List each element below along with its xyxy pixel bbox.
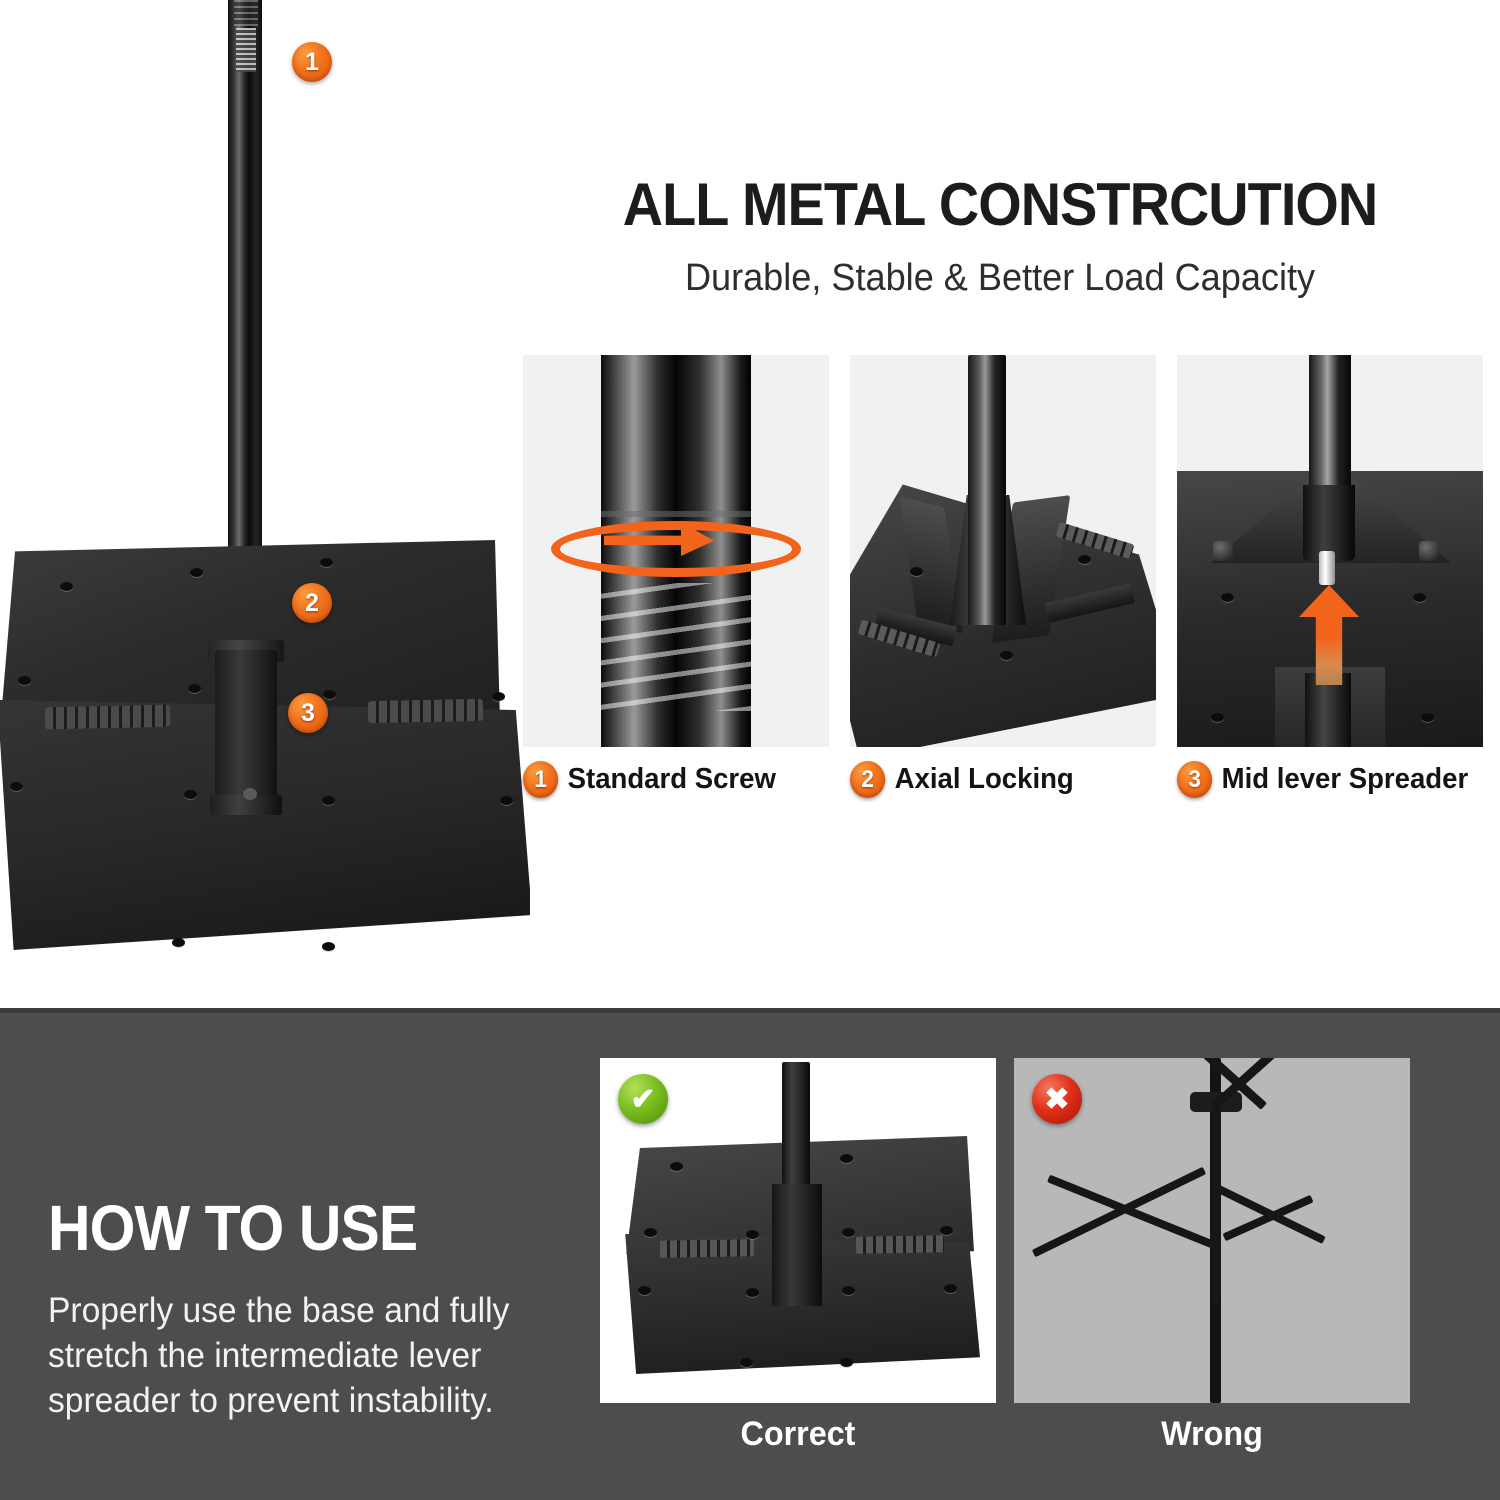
spreader-sleeve — [1303, 485, 1355, 561]
feature-label-3: Mid lever Spreader — [1222, 763, 1469, 796]
spreader-mount-hole — [1413, 593, 1426, 602]
feature-label-1: Standard Screw — [568, 763, 776, 796]
correct-mount-hole — [670, 1162, 683, 1171]
rotate-arrow-icon — [551, 521, 801, 577]
correct-mount-hole — [740, 1358, 753, 1367]
correct-mount-hole — [746, 1288, 759, 1297]
correct-mount-hole — [840, 1154, 853, 1163]
correct-pole — [782, 1062, 810, 1194]
hero-mount-hole — [184, 790, 197, 799]
tube-joint-line — [601, 511, 751, 517]
axial-mount-hole — [1000, 651, 1013, 660]
correct-hinge-right — [856, 1235, 944, 1254]
headline-block: ALL METAL CONSTRCUTION Durable, Stable &… — [520, 170, 1480, 300]
hero-mount-hole — [18, 676, 31, 685]
correct-mount-hole — [644, 1228, 657, 1237]
spreader-bolt — [1213, 541, 1233, 561]
hero-mount-hole — [322, 796, 335, 805]
comparison-label-wrong: Wrong — [1024, 1415, 1400, 1454]
feature-caption-axial-locking: 2 Axial Locking — [850, 761, 1141, 798]
axial-pole — [968, 355, 1006, 625]
correct-mount-hole — [842, 1228, 855, 1237]
feature-card-standard-screw: 1 Standard Screw — [523, 355, 829, 825]
how-to-use-body: Properly use the base and fully stretch … — [48, 1289, 538, 1423]
feature-image-standard-screw — [523, 355, 829, 747]
spreader-pin — [1319, 551, 1335, 585]
feature-thumbnail-row: 1 Standard Screw 2 Axial — [523, 355, 1483, 825]
correct-mount-hole — [746, 1230, 759, 1239]
close-icon: ✖ — [1032, 1074, 1082, 1124]
spreader-mount-hole — [1211, 713, 1224, 722]
hero-collar-knob — [243, 788, 257, 800]
feature-caption-mid-lever-spreader: 3 Mid lever Spreader — [1177, 761, 1468, 798]
hero-mount-hole — [320, 558, 333, 567]
correct-mount-hole — [944, 1284, 957, 1293]
comparison-row: ✔ Correct ✖ Wrong — [600, 1058, 1410, 1458]
correct-mount-hole — [638, 1286, 651, 1295]
correct-center-collar — [772, 1184, 822, 1306]
feature-badge-2: 2 — [850, 761, 885, 798]
page-title: ALL METAL CONSTRCUTION — [554, 170, 1447, 239]
wrong-leg-center — [1212, 1104, 1220, 1304]
hero-pole-upper-thread-icon — [234, 0, 258, 26]
feature-image-axial-locking — [850, 355, 1156, 747]
hero-mount-hole — [172, 938, 185, 947]
correct-mount-hole — [840, 1358, 853, 1367]
hero-mount-hole — [322, 942, 335, 951]
hero-badge-1: 1 — [292, 42, 332, 82]
feature-card-axial-locking: 2 Axial Locking — [850, 355, 1156, 825]
hero-screw-thread-icon — [236, 28, 256, 72]
page-subtitle: Durable, Stable & Better Load Capacity — [544, 257, 1456, 300]
comparison-image-correct: ✔ — [600, 1058, 996, 1403]
correct-mount-hole — [842, 1286, 855, 1295]
how-to-use-text-block: HOW TO USE Properly use the base and ful… — [48, 1191, 558, 1423]
comparison-label-correct: Correct — [610, 1415, 986, 1454]
comparison-image-wrong: ✖ — [1014, 1058, 1410, 1403]
spreader-bolt — [1419, 541, 1439, 561]
hero-mount-hole — [323, 690, 336, 699]
hero-badge-3: 3 — [288, 693, 328, 733]
hero-mount-hole — [500, 796, 513, 805]
correct-mount-hole — [940, 1226, 953, 1235]
all-metal-construction-section: 1 2 3 ALL METAL CONSTRCUTION Durable, St… — [0, 0, 1500, 1008]
spreader-mount-hole — [1421, 713, 1434, 722]
feature-badge-1: 1 — [523, 761, 558, 798]
hero-hinge-right — [368, 699, 483, 723]
spreader-mount-hole — [1221, 593, 1234, 602]
feature-badge-3: 3 — [1177, 761, 1212, 798]
correct-hinge-left — [660, 1239, 754, 1258]
feature-image-mid-lever-spreader — [1177, 355, 1483, 747]
check-icon: ✔ — [618, 1074, 668, 1124]
comparison-card-correct: ✔ Correct — [600, 1058, 996, 1458]
feature-label-2: Axial Locking — [895, 763, 1074, 796]
comparison-card-wrong: ✖ Wrong — [1014, 1058, 1410, 1458]
feature-card-mid-lever-spreader: 3 Mid lever Spreader — [1177, 355, 1483, 825]
hero-mount-hole — [190, 568, 203, 577]
feature-caption-standard-screw: 1 Standard Screw — [523, 761, 814, 798]
hero-pole — [228, 0, 262, 630]
axial-mount-hole — [910, 567, 923, 576]
how-to-use-title: HOW TO USE — [48, 1191, 517, 1265]
hero-hinge-left — [45, 705, 170, 730]
hero-mount-hole — [60, 582, 73, 591]
hero-mount-hole — [492, 692, 505, 701]
tube-thread-highlight — [601, 583, 751, 711]
hero-product-photo: 1 2 3 — [0, 0, 530, 985]
axial-mount-hole — [1078, 555, 1091, 564]
how-to-use-section: HOW TO USE Properly use the base and ful… — [0, 1008, 1500, 1500]
hero-badge-2: 2 — [292, 583, 332, 623]
hero-mount-hole — [10, 782, 23, 791]
hero-mount-hole — [188, 684, 201, 693]
